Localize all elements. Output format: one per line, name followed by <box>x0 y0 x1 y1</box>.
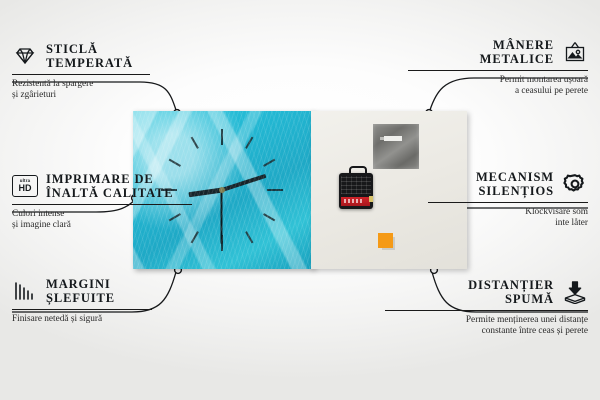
feature-polished-edges: MARGINI ȘLEFUITE Finisare netedă și sigu… <box>12 277 227 325</box>
feature-desc-line2: constante între ceas și perete <box>373 326 588 337</box>
feature-silent-mechanism: MECANISM SILENȚIOS Klockvisare som inte … <box>373 170 588 230</box>
feature-divider <box>12 309 152 310</box>
feature-desc-line1: Permit montarea ușoară <box>373 75 588 86</box>
feature-desc-line2: a ceasului pe perete <box>373 86 588 97</box>
feature-desc-line1: Klockvisare som <box>373 207 588 218</box>
feature-desc-line1: Permite menținerea unei distanțe <box>373 315 588 326</box>
diamond-icon <box>12 44 38 68</box>
feature-title-line2: SPUMĂ <box>505 292 554 306</box>
feature-title-line1: MÂNERE <box>493 38 554 52</box>
feature-header: ultra HD IMPRIMARE DE ÎNALTĂ CALITATE <box>12 172 227 200</box>
clock-mechanism <box>339 173 373 209</box>
ultra-hd-icon-large-text: HD <box>19 184 32 193</box>
arrow-down-layers-icon <box>562 280 588 304</box>
feature-tempered-glass: STICLĂ TEMPERATĂ Rezistentă la spargere … <box>12 42 227 102</box>
feature-title-line1: STICLĂ <box>46 42 98 56</box>
feature-title-line2: SILENȚIOS <box>479 184 555 198</box>
clock-tick-3 <box>222 189 283 191</box>
diagonal-lines-icon <box>12 279 38 303</box>
feature-header: MÂNERE METALICE <box>373 38 588 66</box>
feature-header: MARGINI ȘLEFUITE <box>12 277 227 305</box>
ultra-hd-icon: ultra HD <box>12 174 38 198</box>
aa-battery <box>341 197 370 206</box>
feature-title-line1: IMPRIMARE DE <box>46 172 154 186</box>
metal-hanger-bracket <box>373 124 419 169</box>
hanger-slot <box>384 136 402 141</box>
feature-desc-line1: Culori intense <box>12 209 227 220</box>
feature-header: MECANISM SILENȚIOS <box>373 170 588 198</box>
feature-desc-line2: inte låter <box>373 218 588 229</box>
feature-title-line1: DISTANȚIER <box>468 278 554 292</box>
feature-desc-line2: și zgârieturi <box>12 90 227 101</box>
infographic-canvas: STICLĂ TEMPERATĂ Rezistentă la spargere … <box>0 0 600 400</box>
feature-desc-line1: Finisare netedă și sigură <box>12 314 227 325</box>
picture-frame-hanging-icon <box>562 40 588 64</box>
feature-metal-handles: MÂNERE METALICE Permit montarea ușoară a… <box>373 38 588 98</box>
feature-title-line2: ÎNALTĂ CALITATE <box>46 186 174 200</box>
feature-print-quality: ultra HD IMPRIMARE DE ÎNALTĂ CALITATE Cu… <box>12 172 227 232</box>
feature-divider <box>408 70 588 71</box>
feature-title-line1: MECANISM <box>476 170 554 184</box>
feature-desc-line2: și imagine clară <box>12 220 227 231</box>
feature-title-line1: MARGINI <box>46 277 111 291</box>
foam-spacer-pad <box>378 233 393 248</box>
feature-header: DISTANȚIER SPUMĂ <box>373 278 588 306</box>
feature-title-line2: TEMPERATĂ <box>46 56 133 70</box>
feature-divider <box>12 74 150 75</box>
mechanism-texture <box>341 176 371 194</box>
feature-header: STICLĂ TEMPERATĂ <box>12 42 227 70</box>
gear-icon <box>562 172 588 196</box>
battery-label <box>344 199 364 203</box>
feature-divider <box>12 204 192 205</box>
feature-title-line2: ȘLEFUITE <box>46 291 115 305</box>
feature-foam-spacer: DISTANȚIER SPUMĂ Permite menținerea unei… <box>373 278 588 338</box>
feature-title-line2: METALICE <box>480 52 554 66</box>
feature-divider <box>385 310 588 311</box>
feature-divider <box>428 202 588 203</box>
feature-desc-line1: Rezistentă la spargere <box>12 79 227 90</box>
